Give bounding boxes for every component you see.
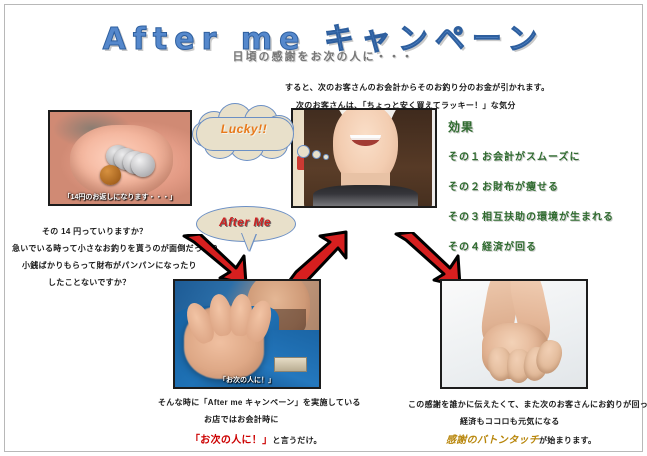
question-line-1: その 14 円っていりますか？ xyxy=(42,226,147,237)
effect-4-text: 経済が回る xyxy=(482,242,537,253)
poster-canvas: After me キャンペーン 日頃の感謝をお次の人に・・・ すると、次のお客さ… xyxy=(0,0,647,456)
question-line-4: したことないですか？ xyxy=(48,277,131,288)
speech-bubble-lucky: Lucky!! xyxy=(192,103,296,159)
photo-man-raising-hand: 「お次の人に！」 xyxy=(173,279,321,389)
photo-coins-caption: 「14円のお返しになります・・・」 xyxy=(50,192,190,202)
center-caption-tail: と言うだけ。 xyxy=(272,436,321,445)
effects-heading: 効果 xyxy=(448,118,474,135)
photo-man-caption: 「お次の人に！」 xyxy=(175,375,319,385)
effect-1-text: お会計がスムーズに xyxy=(482,152,581,163)
bubble-trail-dot-small xyxy=(323,154,329,160)
center-caption-line-3: 「お次の人に！」と言うだけ。 xyxy=(190,431,322,446)
right-caption-line-2: 経済もココロも元気になる xyxy=(460,416,560,427)
effect-3-text: 相互扶助の環境が生まれる xyxy=(482,212,614,223)
right-caption-line-3: 感謝のバトンタッチが始まります。 xyxy=(446,431,596,446)
effect-1-number: その１ xyxy=(448,148,482,163)
photo-holding-hands xyxy=(440,279,588,389)
bubble-trail-dot-medium xyxy=(312,150,321,159)
coin-copper xyxy=(100,165,121,184)
page-subtitle: 日頃の感謝をお次の人に・・・ xyxy=(0,48,647,64)
bubble-trail-dot-large xyxy=(297,145,310,158)
after-me-label: After Me xyxy=(196,215,294,229)
center-caption-highlight: 「お次の人に！」 xyxy=(190,435,272,446)
effect-item-1: その１お会計がスムーズに xyxy=(448,148,581,163)
right-caption-line-1: この感謝を誰かに伝えたくて、また次のお客さんにお釣りが回って、 xyxy=(408,399,647,410)
effect-2-number: その２ xyxy=(448,178,482,193)
arrow-up-right-center xyxy=(288,228,350,286)
center-caption-line-2: お店ではお会計時に xyxy=(204,414,279,425)
right-caption-highlight: 感謝のバトンタッチ xyxy=(446,435,539,446)
lucky-label: Lucky!! xyxy=(192,122,296,136)
question-line-3: 小銭ばかりもらって財布がパンパンになったり xyxy=(22,260,197,271)
effect-item-3: その３相互扶助の環境が生まれる xyxy=(448,208,614,223)
right-caption-tail: が始まります。 xyxy=(539,436,596,445)
center-caption-line-1: そんな時に「After me キャンペーン」を実施している xyxy=(158,397,361,408)
effect-item-2: その２お財布が痩せる xyxy=(448,178,559,193)
man-name-badge xyxy=(274,357,308,372)
sweater-shape xyxy=(313,185,418,208)
intro-line-1: すると、次のお客さんのお会計からそのお釣り分のお金が引かれます。 xyxy=(285,82,549,93)
effect-2-text: お財布が痩せる xyxy=(482,182,559,193)
effect-3-number: その３ xyxy=(448,208,482,223)
photo-hand-with-coins: 「14円のお返しになります・・・」 xyxy=(48,110,192,206)
